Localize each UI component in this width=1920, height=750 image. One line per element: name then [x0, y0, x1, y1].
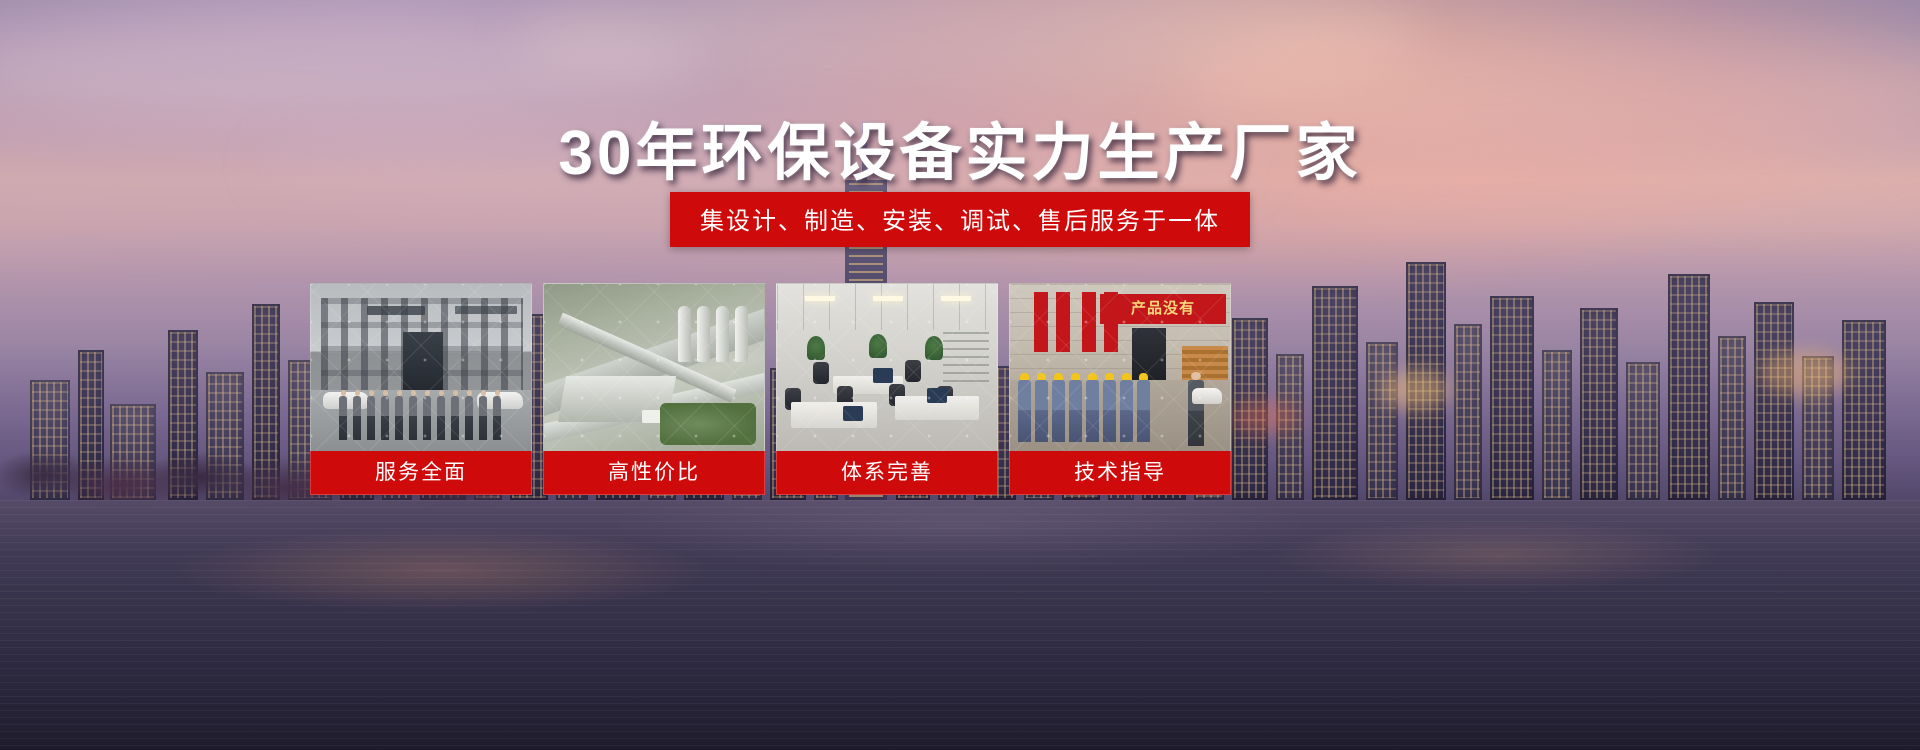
- feature-card-image: [310, 283, 532, 451]
- workshop-banner-text: 产品没有: [1100, 294, 1226, 324]
- feature-card[interactable]: 高性价比: [543, 283, 765, 495]
- feature-card-label: 服务全面: [310, 451, 532, 495]
- feature-card-list: 服务全面 高性价比: [310, 283, 1231, 495]
- vertical-banner: [1056, 292, 1070, 352]
- feature-card-image: [543, 283, 765, 451]
- feature-card-image: [776, 283, 998, 451]
- feature-card-label: 技术指导: [1009, 451, 1231, 495]
- subtitle-banner-wrap: 集设计、制造、安装、调试、售后服务于一体: [0, 192, 1920, 247]
- vertical-banner: [1082, 292, 1096, 352]
- feature-card[interactable]: 服务全面: [310, 283, 532, 495]
- subtitle-banner: 集设计、制造、安装、调试、售后服务于一体: [670, 192, 1250, 247]
- feature-card-label: 高性价比: [543, 451, 765, 495]
- feature-card-label: 体系完善: [776, 451, 998, 495]
- page-title: 30年环保设备实力生产厂家: [0, 102, 1920, 192]
- feature-card[interactable]: 体系完善: [776, 283, 998, 495]
- hero-banner: 30年环保设备实力生产厂家 集设计、制造、安装、调试、售后服务于一体 服务全面: [0, 0, 1920, 750]
- workshop-banner: 产品没有: [1100, 294, 1226, 324]
- vertical-banner: [1034, 292, 1048, 352]
- vertical-banner: [1104, 292, 1118, 352]
- feature-card-image: 产品没有: [1009, 283, 1231, 451]
- feature-card[interactable]: 产品没有 技术指导: [1009, 283, 1231, 495]
- river-water: [0, 500, 1920, 750]
